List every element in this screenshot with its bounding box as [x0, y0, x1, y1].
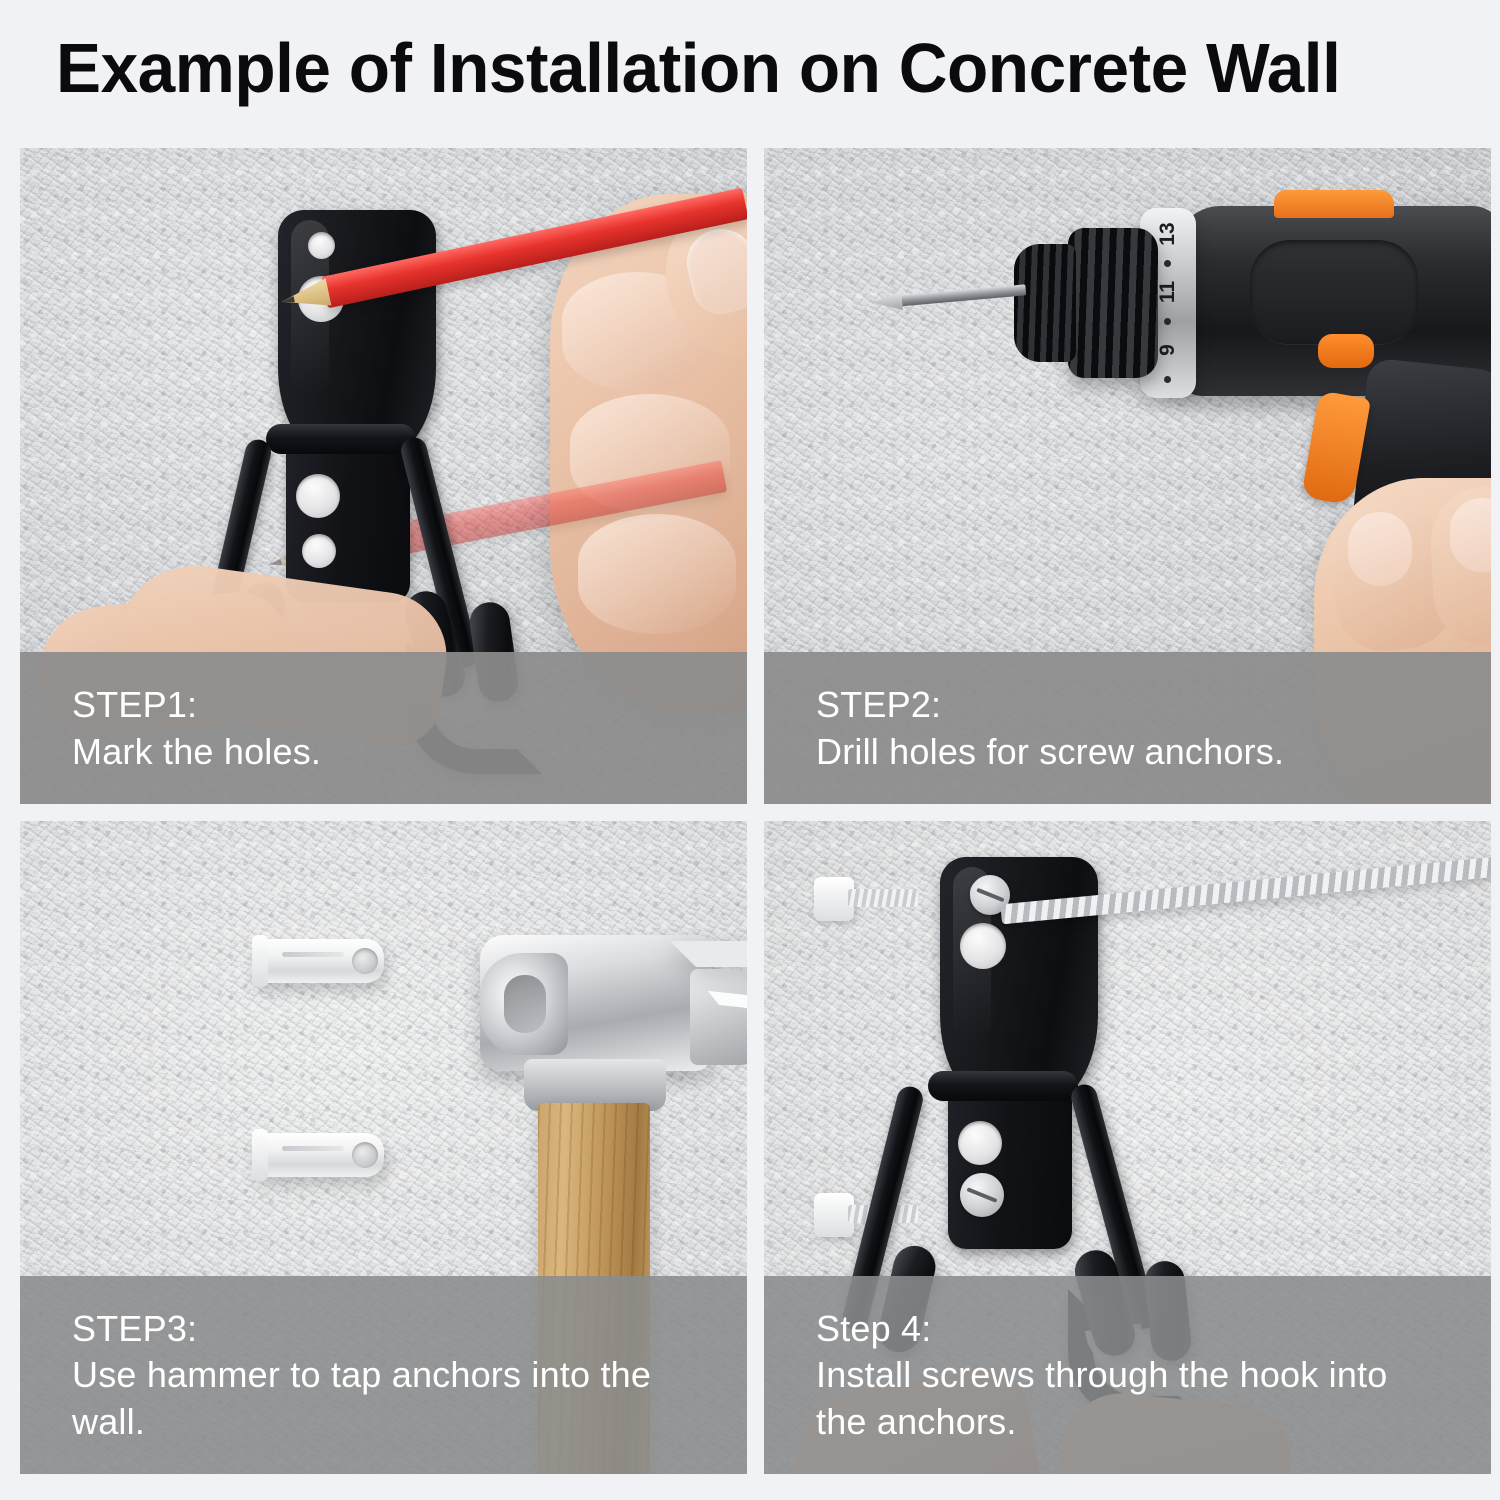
step-1-label: STEP1: — [72, 682, 747, 729]
installation-guide-page: Example of Installation on Concrete Wall — [0, 0, 1500, 1500]
hand-holding-pencil — [550, 194, 747, 714]
step-3-label: STEP3: — [72, 1306, 747, 1353]
step-1-caption: STEP1: Mark the holes. — [20, 652, 747, 804]
mounting-hole-lower — [296, 474, 340, 518]
hook-mounting-plate — [940, 857, 1098, 1107]
step-panel-3: STEP3: Use hammer to tap anchors into th… — [20, 821, 747, 1474]
wall-anchor-bottom — [252, 1133, 384, 1177]
step-3-text: Use hammer to tap anchors into the wall. — [72, 1352, 672, 1446]
step-panel-2: 13 11 9 STEP2: Drill holes — [764, 148, 1491, 804]
drill-direction-switch[interactable] — [1318, 334, 1374, 368]
hook-mounting-plate — [278, 210, 436, 460]
mounting-hole-upper — [960, 923, 1006, 969]
step-4-text: Install screws through the hook into the… — [816, 1352, 1416, 1446]
step-panel-1: STEP1: Mark the holes. — [20, 148, 747, 804]
hook-cross-bar — [928, 1071, 1078, 1101]
cordless-drill: 13 11 9 — [1056, 186, 1491, 616]
clutch-number-11: 11 — [1156, 272, 1180, 312]
step-panel-4: Step 4: Install screws through the hook … — [764, 821, 1491, 1474]
page-title: Example of Installation on Concrete Wall — [56, 28, 1340, 108]
screw-head-bottom — [960, 1173, 1004, 1217]
step-2-label: STEP2: — [816, 682, 1491, 729]
drill-chuck-front — [1014, 244, 1076, 362]
steps-grid: STEP1: Mark the holes. 13 11 — [20, 148, 1481, 1473]
thumbnail — [680, 222, 747, 320]
drill-top-accent — [1274, 190, 1394, 218]
step-2-text: Drill holes for screw anchors. — [816, 729, 1416, 776]
step-4-label: Step 4: — [816, 1306, 1491, 1353]
mounting-hole-lower — [958, 1121, 1002, 1165]
hook-lower-plate — [286, 432, 410, 602]
hook-cross-bar — [266, 424, 416, 454]
step-2-caption: STEP2: Drill holes for screw anchors. — [764, 652, 1491, 804]
hook-lower-plate — [948, 1079, 1072, 1249]
step-1-text: Mark the holes. — [72, 729, 672, 776]
drill-chuck — [1068, 228, 1158, 378]
installed-anchor-bottom — [814, 1193, 854, 1237]
hammer-face — [480, 953, 568, 1055]
clutch-number-9: 9 — [1156, 330, 1180, 370]
mounting-hole-bottom — [302, 534, 336, 568]
clutch-number-13: 13 — [1156, 214, 1180, 254]
wall-anchor-top — [252, 939, 384, 983]
step-4-caption: Step 4: Install screws through the hook … — [764, 1276, 1491, 1474]
installed-anchor-top — [814, 877, 854, 921]
mounting-hole-top — [308, 232, 335, 259]
step-3-caption: STEP3: Use hammer to tap anchors into th… — [20, 1276, 747, 1474]
